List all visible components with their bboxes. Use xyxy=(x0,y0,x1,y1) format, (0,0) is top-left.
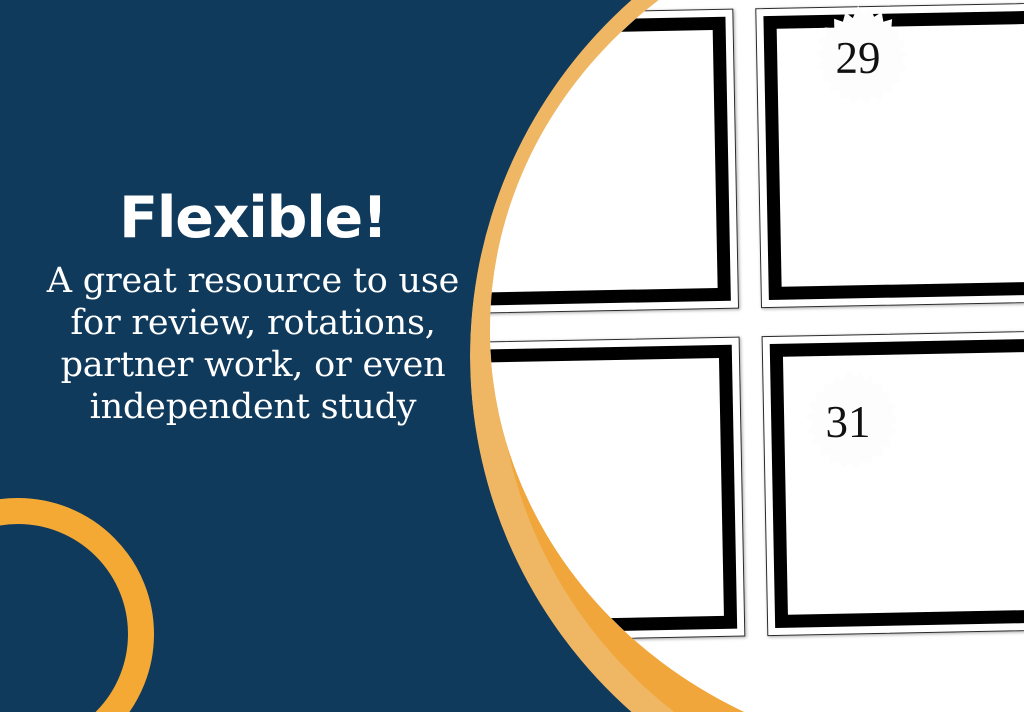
orange-ring xyxy=(0,498,154,712)
slide-canvas: n example of an object that ed. out an e… xyxy=(0,0,1024,712)
task-card xyxy=(762,330,1024,636)
page-title: Flexible! xyxy=(18,186,488,250)
task-card-line-bold: eleration. xyxy=(374,534,462,558)
headline-block: Flexible! A great resource to use for re… xyxy=(18,186,488,428)
page-subtitle: A great resource to use for review, rota… xyxy=(18,260,488,428)
task-card-border xyxy=(770,338,1024,628)
